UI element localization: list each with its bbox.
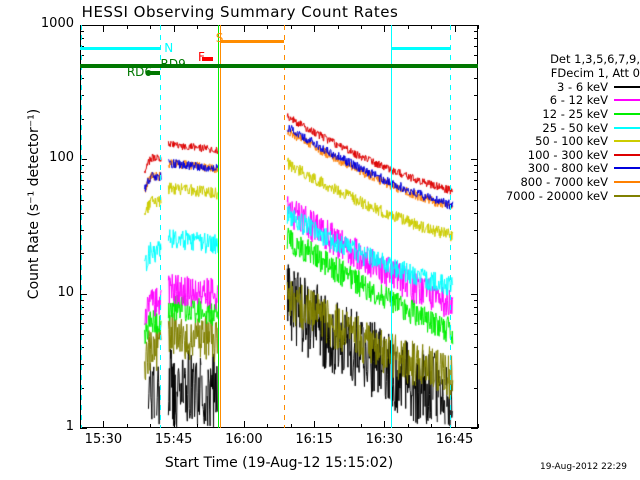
legend-item-label: 12 - 25 keV (542, 107, 608, 121)
saa-label: S (216, 31, 224, 45)
legend-item-label: 6 - 12 keV (550, 93, 608, 107)
x-minor-tick (291, 424, 292, 428)
x-tick-label: 16:30 (354, 432, 414, 447)
y-minor-tick (474, 364, 478, 365)
x-tick (174, 421, 175, 428)
y-minor-tick (474, 314, 478, 315)
y-tick (471, 294, 478, 295)
event-vline (81, 25, 82, 428)
y-minor-tick (474, 230, 478, 231)
y-minor-tick (474, 31, 478, 32)
y-minor-tick (474, 189, 478, 190)
legend-color-swatch (614, 113, 640, 115)
y-minor-tick (474, 347, 478, 348)
event-vline (160, 25, 161, 428)
legend-item: 300 - 800 keV (482, 162, 640, 176)
legend-header-detectors: Det 1,3,5,6,7,9, (482, 52, 640, 66)
x-minor-tick (478, 424, 479, 428)
legend-item-label: 800 - 7000 keV (520, 175, 608, 189)
x-minor-tick (361, 424, 362, 428)
legend: Det 1,3,5,6,7,9, FDecim 1, Att 0 3 - 6 k… (482, 52, 640, 202)
data-traces-canvas (81, 26, 479, 429)
y-minor-tick (474, 200, 478, 201)
x-axis-label: Start Time (19-Aug-12 15:15:02) (80, 455, 478, 471)
x-minor-tick (127, 424, 128, 428)
legend-color-swatch (614, 140, 640, 142)
x-minor-tick (127, 25, 128, 29)
legend-item-label: 100 - 300 keV (528, 148, 608, 162)
y-minor-tick (474, 95, 478, 96)
x-tick (103, 421, 104, 428)
render-timestamp: 19-Aug-2012 22:29 (540, 462, 627, 472)
night-label: N (164, 41, 173, 55)
x-minor-tick (361, 25, 362, 29)
y-minor-tick (474, 388, 478, 389)
legend-color-swatch (614, 167, 640, 169)
y-tick (471, 25, 478, 26)
y-minor-tick (474, 300, 478, 301)
y-axis-label: Count Rate (s⁻¹ detector⁻¹) (26, 0, 42, 414)
legend-item-label: 25 - 50 keV (542, 121, 608, 135)
x-tick (384, 421, 385, 428)
x-minor-tick (431, 424, 432, 428)
event-vline (284, 25, 285, 428)
legend-color-swatch (614, 181, 640, 183)
y-minor-tick (474, 180, 478, 181)
x-minor-tick (197, 25, 198, 29)
legend-header-fdecim: FDecim 1, Att 0 (482, 66, 640, 80)
x-tick (314, 421, 315, 428)
x-tick (174, 25, 175, 32)
x-minor-tick (150, 424, 151, 428)
y-minor-tick (474, 55, 478, 56)
y-minor-tick (474, 119, 478, 120)
event-vline (391, 25, 392, 428)
legend-item-label: 300 - 800 keV (528, 161, 608, 175)
saa-interval-bar (220, 40, 283, 43)
x-minor-tick (338, 424, 339, 428)
legend-item: 12 - 25 keV (482, 107, 640, 121)
y-minor-tick (474, 213, 478, 214)
legend-color-swatch (614, 127, 640, 129)
y-tick (471, 159, 478, 160)
x-minor-tick (267, 25, 268, 29)
event-vline (218, 25, 219, 428)
x-tick-label: 15:30 (73, 432, 133, 447)
event-vline (450, 25, 451, 428)
legend-item: 3 - 6 keV (482, 80, 640, 94)
x-minor-tick (408, 424, 409, 428)
flare-label: F (198, 50, 205, 64)
x-minor-tick (291, 25, 292, 29)
rd9-label: RD9 (161, 57, 186, 71)
x-tick (384, 25, 385, 32)
y-minor-tick (474, 38, 478, 39)
y-minor-tick (474, 334, 478, 335)
x-tick (244, 25, 245, 32)
legend-item: 50 - 100 keV (482, 134, 640, 148)
plot-frame (80, 25, 478, 428)
x-tick-label: 15:45 (144, 432, 204, 447)
x-tick-label: 16:45 (425, 432, 485, 447)
rd6-label: RD6 (127, 65, 152, 79)
x-tick (244, 421, 245, 428)
legend-item-label: 3 - 6 keV (557, 80, 608, 94)
y-minor-tick (474, 172, 478, 173)
x-tick (314, 25, 315, 32)
x-minor-tick (408, 25, 409, 29)
night-interval-bar (391, 47, 450, 50)
x-tick (103, 25, 104, 32)
x-minor-tick (267, 424, 268, 428)
legend-item-label: 50 - 100 keV (535, 134, 608, 148)
y-minor-tick (474, 78, 478, 79)
y-tick (80, 428, 87, 429)
x-tick-label: 16:00 (214, 432, 274, 447)
y-tick-label: 1 (30, 419, 74, 434)
x-tick-label: 16:15 (284, 432, 344, 447)
legend-color-swatch (614, 154, 640, 156)
x-minor-tick (150, 25, 151, 29)
legend-color-swatch (614, 86, 640, 88)
y-minor-tick (474, 46, 478, 47)
plot-canvas-area: HESSI Observing Summary Count Rates 1000… (0, 0, 640, 480)
x-minor-tick (338, 25, 339, 29)
x-tick (455, 421, 456, 428)
x-minor-tick (197, 424, 198, 428)
legend-item: 7000 - 20000 keV (482, 189, 640, 203)
y-tick (471, 428, 478, 429)
night-interval-bar (80, 47, 160, 50)
y-minor-tick (474, 323, 478, 324)
y-minor-tick (474, 165, 478, 166)
y-minor-tick (474, 307, 478, 308)
legend-color-swatch (614, 99, 640, 101)
legend-item-label: 7000 - 20000 keV (506, 189, 608, 203)
legend-item: 100 - 300 keV (482, 148, 640, 162)
x-minor-tick (478, 25, 479, 29)
legend-color-swatch (614, 195, 640, 197)
y-minor-tick (474, 253, 478, 254)
x-minor-tick (431, 25, 432, 29)
event-vline (220, 25, 221, 428)
x-tick (455, 25, 456, 32)
legend-item: 6 - 12 keV (482, 94, 640, 108)
legend-item: 25 - 50 keV (482, 121, 640, 135)
legend-item: 800 - 7000 keV (482, 175, 640, 189)
